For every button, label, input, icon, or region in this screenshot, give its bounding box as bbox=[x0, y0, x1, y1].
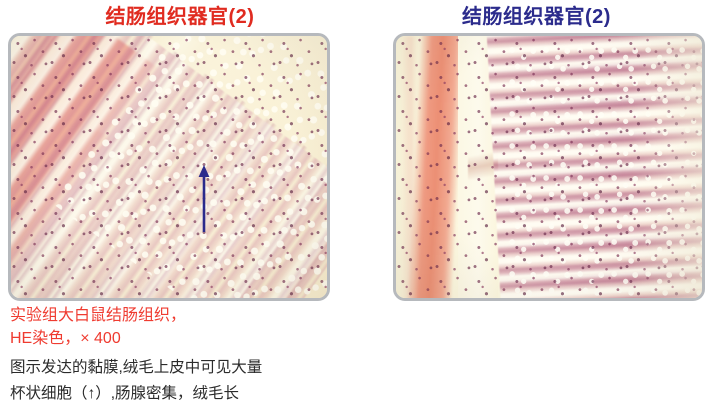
up-arrow-icon bbox=[197, 164, 211, 232]
description-left: 图示发达的黏膜,绒毛上皮中可见大量 杯状细胞（↑）,肠腺密集，绒毛长 bbox=[10, 355, 355, 407]
panel-right: 结肠组织器官(2) 实验组大白鼠结肠组织， HE染色，× 400 图示退化的肠壁… bbox=[360, 0, 713, 418]
description-left-line-2: 杯状细胞（↑）,肠腺密集，绒毛长 bbox=[10, 381, 355, 407]
panel-right-title: 结肠组织器官(2) bbox=[360, 0, 713, 32]
micrograph-left[interactable] bbox=[8, 33, 330, 301]
micrograph-left-canvas bbox=[11, 36, 327, 298]
micrograph-vignette bbox=[11, 36, 327, 298]
caption-left-line-2: HE染色，× 400 bbox=[10, 327, 350, 350]
caption-left-line-1: 实验组大白鼠结肠组织， bbox=[10, 304, 350, 327]
micrograph-vignette bbox=[396, 36, 702, 298]
micrograph-right[interactable] bbox=[393, 33, 705, 301]
description-left-line-1: 图示发达的黏膜,绒毛上皮中可见大量 bbox=[10, 355, 355, 381]
caption-left: 实验组大白鼠结肠组织， HE染色，× 400 bbox=[10, 304, 350, 350]
micrograph-right-canvas bbox=[396, 36, 702, 298]
panel-left: 结肠组织器官(2) 实验组大白鼠结肠组织， HE染色，× 400 bbox=[0, 0, 360, 418]
panel-left-title: 结肠组织器官(2) bbox=[0, 0, 360, 32]
slide-canvas: 结肠组织器官(2) 实验组大白鼠结肠组织， HE染色，× 400 bbox=[0, 0, 713, 418]
